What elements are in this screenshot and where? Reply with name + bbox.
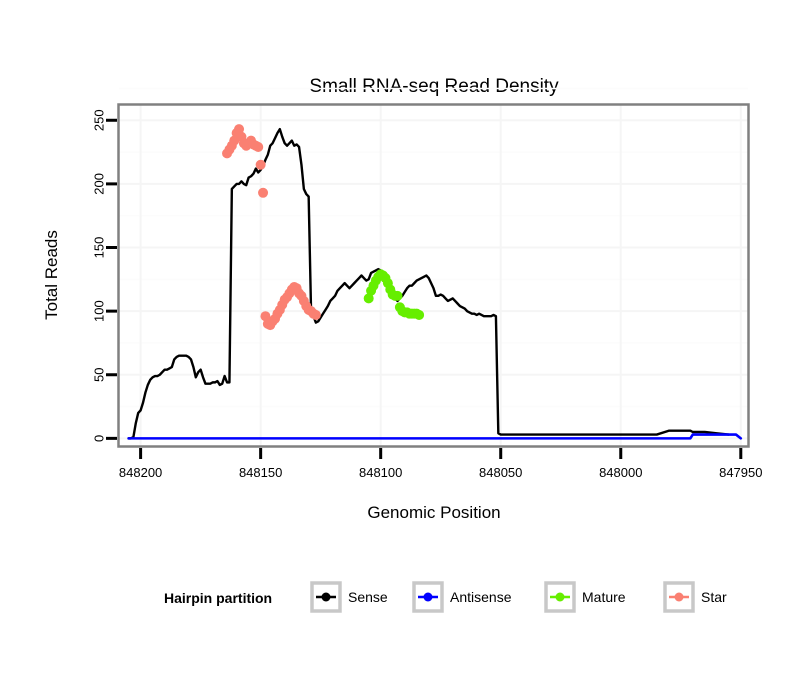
legend-title: Hairpin partition [164,590,272,606]
y-axis-title: Total Reads [42,230,61,320]
y-tick-label: 200 [92,173,107,195]
y-tick-label: 250 [92,109,107,131]
data-point [392,291,402,301]
legend-item-label: Antisense [450,589,512,605]
read-density-chart: Small RNA-seq Read Density 8482008481508… [0,0,810,690]
x-tick-label: 848000 [599,465,642,480]
x-tick-label: 848200 [119,465,162,480]
x-tick-label: 848100 [359,465,402,480]
data-point [253,142,263,152]
y-tick-label: 50 [92,368,107,382]
y-tick-label: 150 [92,237,107,259]
legend-key-point [675,593,684,602]
y-tick-label: 100 [92,300,107,322]
x-axis-title: Genomic Position [367,503,500,522]
x-tick-label: 848050 [479,465,522,480]
data-point [256,160,266,170]
chart-page: Small RNA-seq Read Density 8482008481508… [0,0,810,690]
data-point [311,310,321,320]
y-tick-label: 0 [92,435,107,442]
chart-title: Small RNA-seq Read Density [309,76,559,97]
legend-item-label: Sense [348,589,388,605]
legend-item-label: Star [701,589,727,605]
x-tick-label: 847950 [719,465,762,480]
data-point [414,310,424,320]
legend-key-point [424,593,433,602]
legend-item-label: Mature [582,589,626,605]
x-tick-label: 848150 [239,465,282,480]
data-point [258,188,268,198]
legend-key-point [556,593,565,602]
legend-key-point [322,593,331,602]
